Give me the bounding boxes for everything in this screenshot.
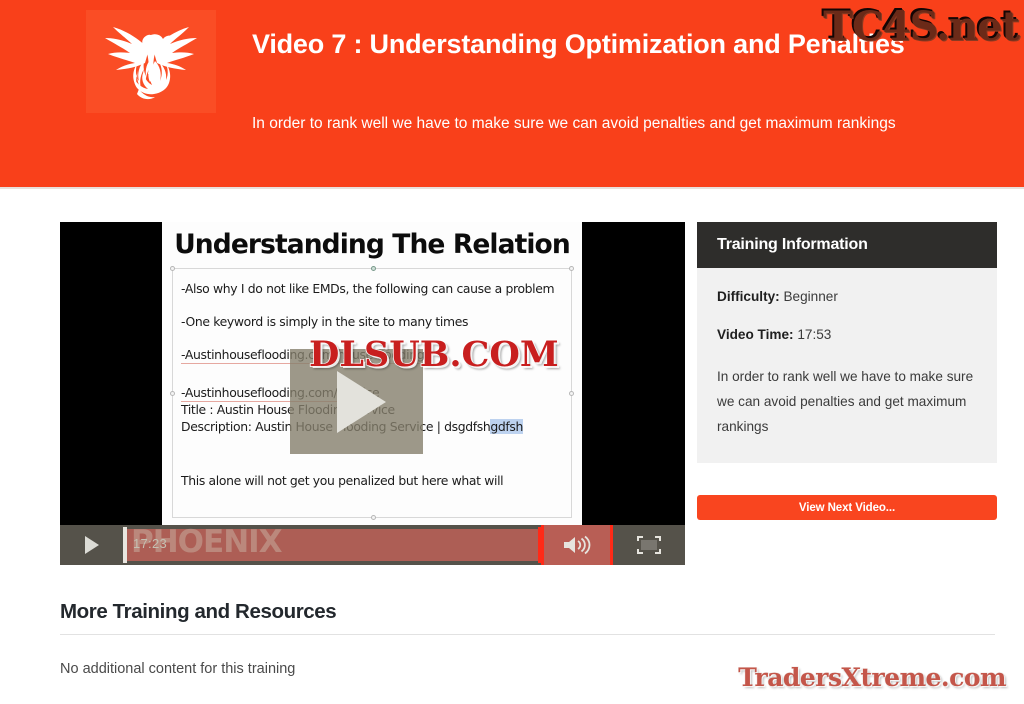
current-time-label: 17:23 bbox=[133, 536, 167, 551]
more-resources-empty-text: No additional content for this training bbox=[60, 661, 295, 677]
resize-handle-icon bbox=[170, 391, 175, 396]
resize-handle-icon bbox=[170, 266, 175, 271]
training-description: In order to rank well we have to make su… bbox=[717, 364, 977, 439]
fullscreen-button[interactable] bbox=[613, 525, 685, 565]
training-video-page: Video 7 : Understanding Optimization and… bbox=[0, 0, 1024, 704]
video-player[interactable]: Understanding The Relation -Also why I d… bbox=[60, 222, 685, 565]
video-play-overlay[interactable] bbox=[290, 349, 423, 454]
slide-title: Understanding The Relation bbox=[162, 229, 582, 260]
video-time-row: Video Time: 17:53 bbox=[717, 326, 977, 344]
view-next-video-button[interactable]: View Next Video... bbox=[697, 495, 997, 520]
difficulty-row: Difficulty: Beginner bbox=[717, 288, 977, 306]
progress-handle[interactable] bbox=[538, 527, 541, 563]
slide-line: -Also why I do not like EMDs, the follow… bbox=[181, 281, 569, 296]
training-info-panel: Training Information Difficulty: Beginne… bbox=[697, 222, 997, 520]
training-info-heading: Training Information bbox=[697, 222, 997, 268]
volume-edge-marker bbox=[610, 525, 613, 565]
play-icon bbox=[85, 536, 99, 554]
progress-bar[interactable]: PHOENIX 17:23 bbox=[123, 525, 541, 565]
resize-handle-icon bbox=[569, 266, 574, 271]
phoenix-logo bbox=[86, 10, 216, 113]
play-button[interactable] bbox=[60, 525, 123, 565]
progress-start-marker bbox=[123, 527, 127, 563]
more-resources-divider bbox=[60, 634, 995, 635]
volume-button[interactable] bbox=[541, 525, 613, 565]
resize-handle-icon bbox=[371, 515, 376, 520]
progress-fill bbox=[123, 529, 541, 561]
play-icon bbox=[337, 371, 386, 433]
page-title: Video 7 : Understanding Optimization and… bbox=[252, 26, 952, 63]
player-controls: PHOENIX 17:23 bbox=[60, 525, 685, 565]
difficulty-label: Difficulty: bbox=[717, 289, 780, 304]
resize-handle-icon bbox=[371, 266, 376, 271]
video-time-value: 17:53 bbox=[797, 327, 831, 342]
volume-icon bbox=[562, 534, 592, 556]
page-header: Video 7 : Understanding Optimization and… bbox=[0, 0, 1024, 187]
slide-line: -One keyword is simply in the site to ma… bbox=[181, 314, 569, 329]
video-time-label: Video Time: bbox=[717, 327, 794, 342]
volume-edge-marker bbox=[541, 525, 544, 565]
resize-handle-icon bbox=[569, 391, 574, 396]
more-resources-heading: More Training and Resources bbox=[60, 600, 336, 624]
training-info-body: Difficulty: Beginner Video Time: 17:53 I… bbox=[697, 268, 997, 463]
slide-line-highlight: gdfsh bbox=[490, 419, 523, 434]
fullscreen-icon bbox=[636, 534, 662, 556]
slide-line: This alone will not get you penalized bu… bbox=[181, 473, 569, 488]
page-subtitle: In order to rank well we have to make su… bbox=[252, 110, 962, 137]
header-divider bbox=[0, 187, 1024, 189]
difficulty-value: Beginner bbox=[783, 289, 837, 304]
tradersxtreme-watermark: TradersXtreme.com bbox=[738, 663, 1006, 692]
